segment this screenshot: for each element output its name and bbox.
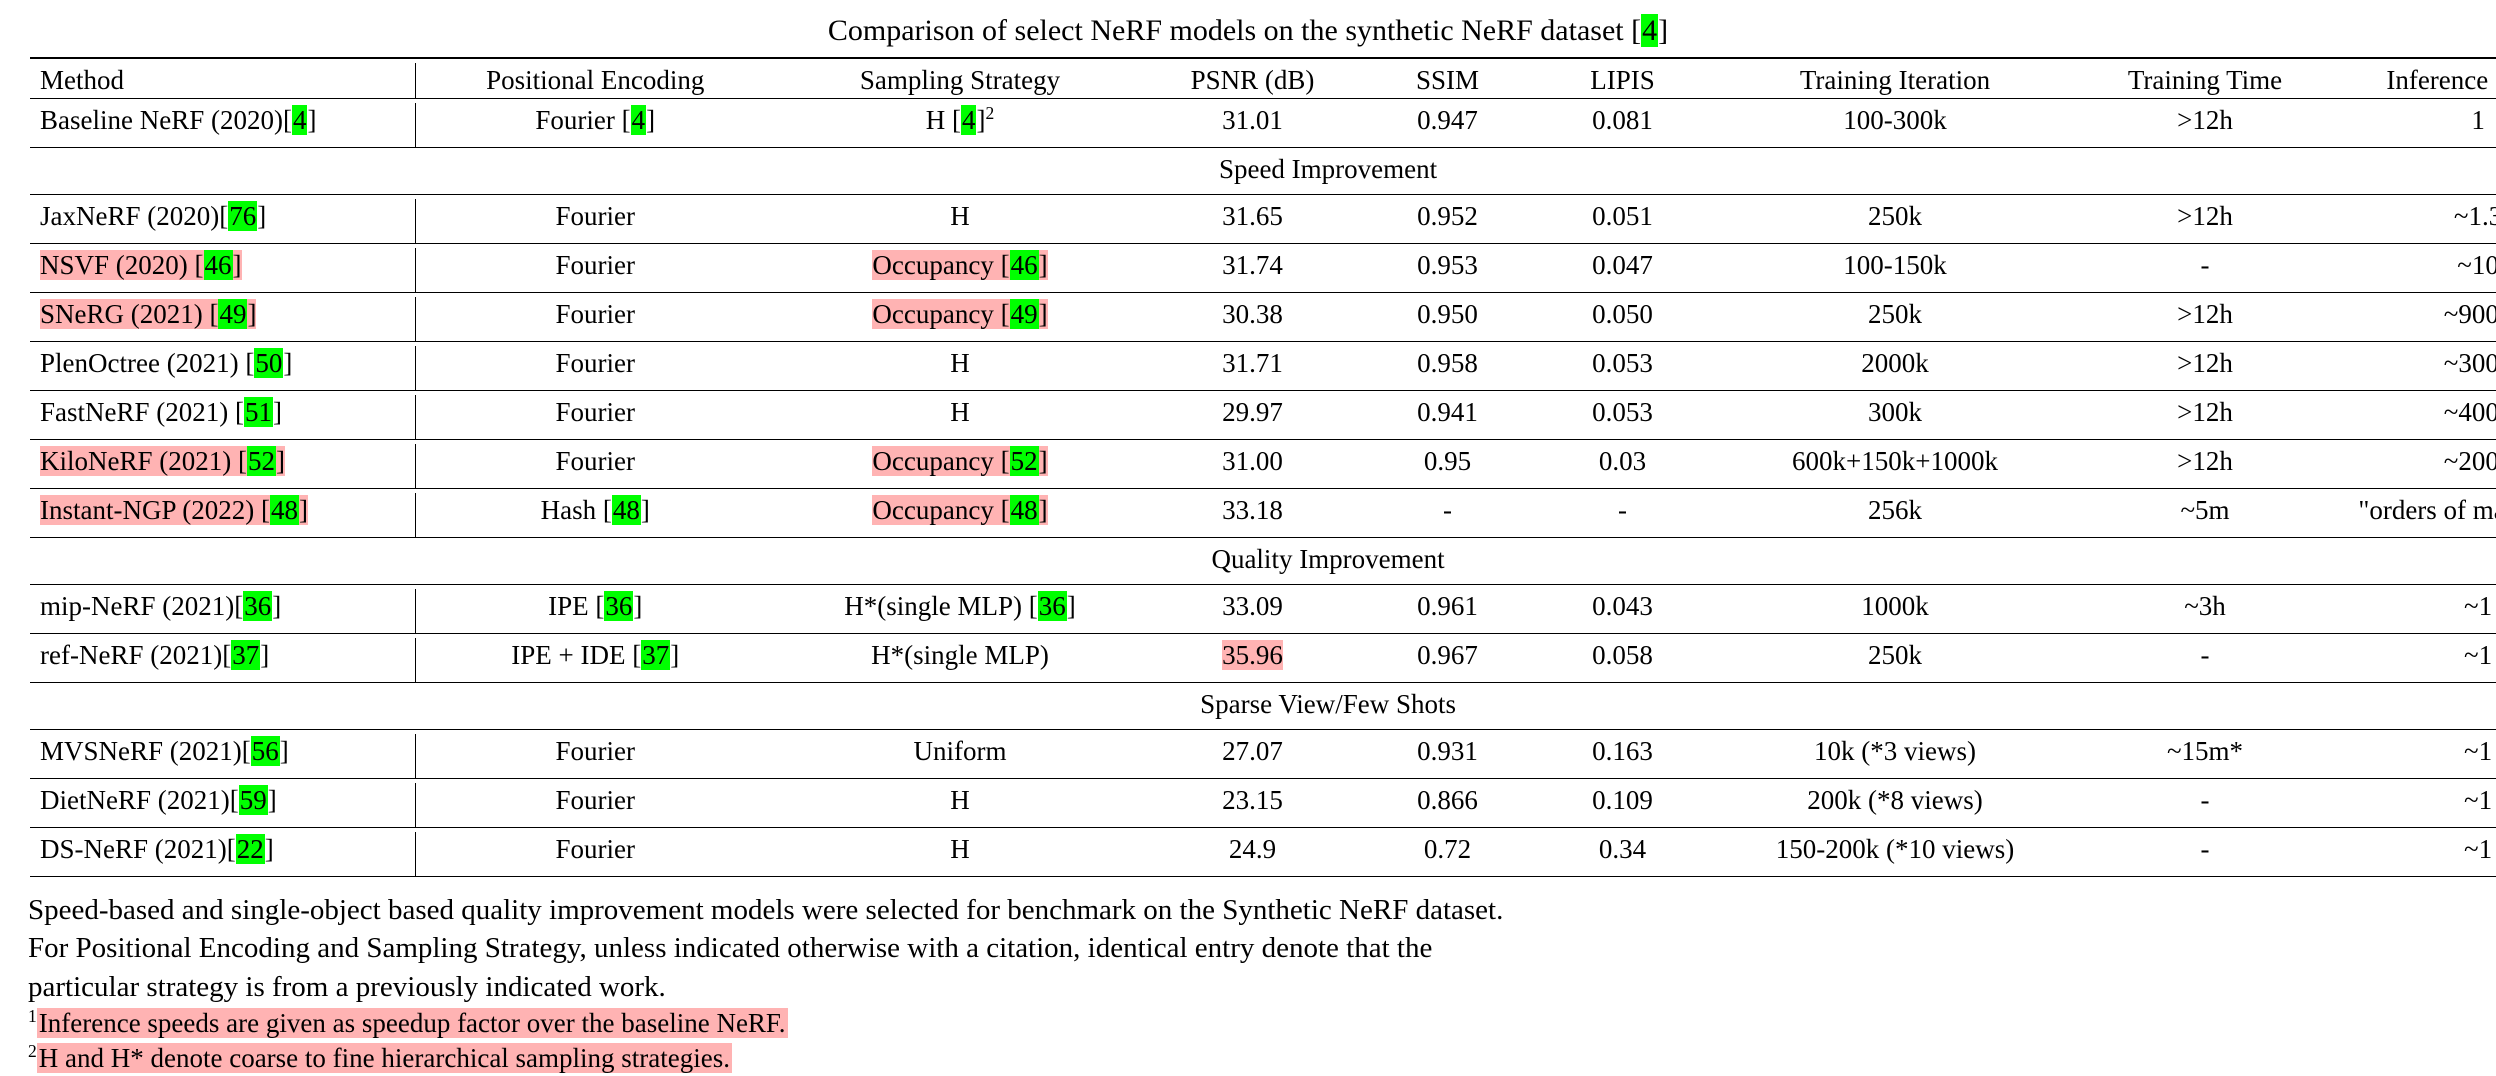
table-row: MVSNeRF (2021)[56]FourierUniform27.070.9… <box>30 734 2496 779</box>
table-row: DS-NeRF (2021)[22]FourierH24.90.720.3415… <box>30 832 2496 877</box>
cell-training-iteration: 150-200k (*10 views) <box>1710 832 2080 877</box>
cell-ssim: - <box>1360 493 1535 538</box>
cell-lipis: 0.163 <box>1535 734 1710 779</box>
cell-method: DS-NeRF (2021)[22] <box>30 832 415 877</box>
cell-sampling-strategy: H*(single MLP) <box>775 638 1145 683</box>
footnote-1-marker: 1 <box>28 1006 37 1026</box>
citation-ref: 56 <box>251 736 280 766</box>
cell-text-after: ] <box>280 736 289 766</box>
cell-text: Fourier <box>556 348 635 378</box>
cell-text-after: ] <box>307 105 316 135</box>
cell-inference-speed: "orders of magnitude" <box>2330 493 2496 538</box>
cell-text-after: ] <box>670 640 679 670</box>
cell-text: Occupancy [ <box>872 446 1009 476</box>
column-header-label: Training Iteration <box>1800 65 1990 95</box>
footnote-2: 2H and H* denote coarse to fine hierarch… <box>28 1041 2468 1076</box>
cell-text-after: ] <box>276 446 285 476</box>
cell-sampling-strategy: H <box>775 346 1145 391</box>
citation-ref: 22 <box>236 834 265 864</box>
cell-training-iteration: 256k <box>1710 493 2080 538</box>
citation-ref: 49 <box>1010 299 1039 329</box>
citation-ref: 59 <box>239 785 268 815</box>
table-row: DietNeRF (2021)[59]FourierH23.150.8660.1… <box>30 783 2496 828</box>
cell-training-time: >12h <box>2080 346 2330 391</box>
cell-text: Occupancy [ <box>872 250 1009 280</box>
cell-ssim: 0.961 <box>1360 589 1535 634</box>
cell-positional-encoding: Fourier <box>415 444 775 489</box>
cell-ssim: 0.950 <box>1360 297 1535 342</box>
cell-ssim: 0.958 <box>1360 346 1535 391</box>
cell-training-time: >12h <box>2080 297 2330 342</box>
cell-lipis: 0.053 <box>1535 346 1710 391</box>
citation-ref: 48 <box>1010 495 1039 525</box>
cell-text: H <box>950 785 970 815</box>
cell-text-after: ] <box>1067 591 1076 621</box>
citation-ref: 52 <box>247 446 276 476</box>
caption-line-3: particular strategy is from a previously… <box>28 968 2468 1006</box>
cell-positional-encoding: Fourier <box>415 395 775 440</box>
cell-psnr: 27.07 <box>1145 734 1360 779</box>
table-body: MethodPositional EncodingSampling Strate… <box>30 58 2496 881</box>
cell-text-after: ] <box>641 495 650 525</box>
cell-inference-speed: ~1.3 <box>2330 199 2496 244</box>
citation-ref: 36 <box>1038 591 1067 621</box>
citation-ref: 4 <box>961 105 977 135</box>
citation-ref: 50 <box>254 348 283 378</box>
cell-psnr: 31.01 <box>1145 103 1360 148</box>
citation-ref: 4 <box>292 105 308 135</box>
cell-ssim: 0.947 <box>1360 103 1535 148</box>
cell-inference-speed: ~1 <box>2330 783 2496 828</box>
cell-ssim: 0.952 <box>1360 199 1535 244</box>
cell-text: MVSNeRF (2021)[ <box>40 736 251 766</box>
table-row: JaxNeRF (2020)[76]FourierH31.650.9520.05… <box>30 199 2496 244</box>
cell-sampling-strategy: H <box>775 395 1145 440</box>
cell-training-time: - <box>2080 248 2330 293</box>
table-row: PlenOctree (2021) [50]FourierH31.710.958… <box>30 346 2496 391</box>
footnote-2-marker: 2 <box>28 1041 37 1061</box>
cell-psnr: 31.00 <box>1145 444 1360 489</box>
cell-method: mip-NeRF (2021)[36] <box>30 589 415 634</box>
column-header-psnr-db: PSNR (dB) <box>1145 63 1360 99</box>
cell-text: Uniform <box>914 736 1007 766</box>
cell-text: Fourier <box>556 785 635 815</box>
cell-lipis: 0.34 <box>1535 832 1710 877</box>
cell-method: KiloNeRF (2021) [52] <box>30 444 415 489</box>
cell-text: Fourier <box>556 446 635 476</box>
cell-text: Fourier <box>556 834 635 864</box>
cell-training-iteration: 1000k <box>1710 589 2080 634</box>
cell-method: FastNeRF (2021) [51] <box>30 395 415 440</box>
cell-text-after: ] <box>273 397 282 427</box>
cell-text-after: ] <box>247 299 256 329</box>
table-row: ref-NeRF (2021)[37]IPE + IDE [37]H*(sing… <box>30 638 2496 683</box>
cell-sampling-strategy: Occupancy [48] <box>775 493 1145 538</box>
cell-sampling-strategy: H*(single MLP) [36] <box>775 589 1145 634</box>
citation-ref: 51 <box>244 397 273 427</box>
column-header-lipis: LIPIS <box>1535 63 1710 99</box>
cell-text: Hash [ <box>541 495 612 525</box>
table-row: NSVF (2020) [46]FourierOccupancy [46]31.… <box>30 248 2496 293</box>
cell-text: IPE [ <box>548 591 604 621</box>
cell-lipis: 0.03 <box>1535 444 1710 489</box>
cell-psnr: 33.18 <box>1145 493 1360 538</box>
cell-method: Baseline NeRF (2020)[4] <box>30 103 415 148</box>
cell-lipis: 0.047 <box>1535 248 1710 293</box>
cell-positional-encoding: Fourier <box>415 832 775 877</box>
cell-text-after: ] <box>233 250 242 280</box>
cell-text: H [ <box>926 105 961 135</box>
cell-training-time: ~3h <box>2080 589 2330 634</box>
cell-ssim: 0.95 <box>1360 444 1535 489</box>
citation-ref: 46 <box>1010 250 1039 280</box>
cell-training-time: ~15m* <box>2080 734 2330 779</box>
column-header-sampling-strategy: Sampling Strategy <box>775 63 1145 99</box>
cell-positional-encoding: Fourier [4] <box>415 103 775 148</box>
table-page: Comparison of select NeRF models on the … <box>0 0 2496 1014</box>
caption-line-1: Speed-based and single-object based qual… <box>28 891 2468 929</box>
column-header-label: Training Time <box>2128 65 2282 95</box>
cell-text: H <box>950 201 970 231</box>
cell-lipis: 0.051 <box>1535 199 1710 244</box>
cell-text-after: ] <box>1039 299 1048 329</box>
cell-training-iteration: 200k (*8 views) <box>1710 783 2080 828</box>
cell-text-after: ] <box>272 591 281 621</box>
cell-text-after: ] <box>1039 446 1048 476</box>
cell-text: PlenOctree (2021) [ <box>40 348 254 378</box>
table-row: Instant-NGP (2022) [48]Hash [48]Occupanc… <box>30 493 2496 538</box>
cell-training-iteration: 250k <box>1710 199 2080 244</box>
cell-ssim: 0.72 <box>1360 832 1535 877</box>
title-text-after: ] <box>1658 14 1668 47</box>
cell-psnr: 24.9 <box>1145 832 1360 877</box>
cell-training-time: - <box>2080 832 2330 877</box>
cell-lipis: 0.053 <box>1535 395 1710 440</box>
cell-psnr: 35.96 <box>1145 638 1360 683</box>
highlighted-method: KiloNeRF (2021) [52] <box>40 446 285 476</box>
cell-training-time: >12h <box>2080 395 2330 440</box>
column-header-training-time: Training Time <box>2080 63 2330 99</box>
column-header-inference-speed: Inference Speed1 <box>2330 63 2496 99</box>
cell-text-after: ] <box>646 105 655 135</box>
citation-ref: 37 <box>641 640 670 670</box>
cell-inference-speed: ~1 <box>2330 832 2496 877</box>
cell-psnr: 31.74 <box>1145 248 1360 293</box>
cell-inference-speed: ~1 <box>2330 734 2496 779</box>
cell-sampling-strategy: Occupancy [52] <box>775 444 1145 489</box>
highlighted-sampling-strategy: Occupancy [52] <box>872 446 1047 476</box>
footnote-1-text: Inference speeds are given as speedup fa… <box>37 1008 788 1038</box>
cell-training-time: >12h <box>2080 199 2330 244</box>
section-header-row: Sparse View/Few Shots <box>30 687 2496 730</box>
cell-ssim: 0.941 <box>1360 395 1535 440</box>
column-header-label: PSNR (dB) <box>1191 65 1315 95</box>
table-title: Comparison of select NeRF models on the … <box>0 0 2496 57</box>
cell-text: Fourier <box>556 736 635 766</box>
cell-text: Baseline NeRF (2020)[ <box>40 105 292 135</box>
citation-ref: 48 <box>270 495 299 525</box>
cell-inference-speed: 1 <box>2330 103 2496 148</box>
citation-ref: 36 <box>604 591 633 621</box>
cell-lipis: - <box>1535 493 1710 538</box>
cell-positional-encoding: Fourier <box>415 734 775 779</box>
cell-lipis: 0.058 <box>1535 638 1710 683</box>
cell-method: NSVF (2020) [46] <box>30 248 415 293</box>
table-row: FastNeRF (2021) [51]FourierH29.970.9410.… <box>30 395 2496 440</box>
cell-ssim: 0.953 <box>1360 248 1535 293</box>
caption-line-2: For Positional Encoding and Sampling Str… <box>28 929 2468 967</box>
cell-positional-encoding: Fourier <box>415 248 775 293</box>
section-header-row: Speed Improvement <box>30 152 2496 195</box>
cell-method: DietNeRF (2021)[59] <box>30 783 415 828</box>
cell-text: H*(single MLP) <box>871 640 1049 670</box>
cell-text: Fourier [ <box>535 105 630 135</box>
cell-training-iteration: 10k (*3 views) <box>1710 734 2080 779</box>
column-header-ssim: SSIM <box>1360 63 1535 99</box>
cell-psnr: 31.65 <box>1145 199 1360 244</box>
section-header-row: Quality Improvement <box>30 542 2496 585</box>
cell-sampling-strategy: H [4]2 <box>775 103 1145 148</box>
highlighted-sampling-strategy: Occupancy [46] <box>872 250 1047 280</box>
cell-text-after: ] <box>283 348 292 378</box>
citation-ref: 76 <box>228 201 257 231</box>
cell-text: H <box>950 397 970 427</box>
cell-method: JaxNeRF (2020)[76] <box>30 199 415 244</box>
cell-sampling-strategy: H <box>775 832 1145 877</box>
column-header-label: Inference Speed <box>2386 65 2496 95</box>
cell-text-after: ] <box>268 785 277 815</box>
cell-positional-encoding: Fourier <box>415 199 775 244</box>
column-header-positional-encoding: Positional Encoding <box>415 63 775 99</box>
table-caption: Speed-based and single-object based qual… <box>0 881 2496 1076</box>
cell-method: SNeRG (2021) [49] <box>30 297 415 342</box>
table-header-row: MethodPositional EncodingSampling Strate… <box>30 63 2496 99</box>
title-text-before: Comparison of select NeRF models on the … <box>828 14 1641 47</box>
highlighted-sampling-strategy: Occupancy [48] <box>872 495 1047 525</box>
cell-lipis: 0.109 <box>1535 783 1710 828</box>
cell-text: H <box>950 348 970 378</box>
cell-text-after: ] <box>299 495 308 525</box>
cell-lipis: 0.043 <box>1535 589 1710 634</box>
cell-positional-encoding: Hash [48] <box>415 493 775 538</box>
highlighted-method: Instant-NGP (2022) [48] <box>40 495 308 525</box>
cell-ssim: 0.967 <box>1360 638 1535 683</box>
table-row: KiloNeRF (2021) [52]FourierOccupancy [52… <box>30 444 2496 489</box>
cell-inference-speed: ~3000 <box>2330 346 2496 391</box>
cell-text: JaxNeRF (2020)[ <box>40 201 228 231</box>
cell-training-time: - <box>2080 638 2330 683</box>
cell-training-time: ~5m <box>2080 493 2330 538</box>
cell-sampling-strategy: Occupancy [49] <box>775 297 1145 342</box>
footnote-1: 1Inference speeds are given as speedup f… <box>28 1006 2468 1041</box>
highlighted-psnr: 35.96 <box>1222 640 1283 670</box>
cell-text: DietNeRF (2021)[ <box>40 785 239 815</box>
cell-text: Instant-NGP (2022) [ <box>40 495 270 525</box>
cell-ssim: 0.931 <box>1360 734 1535 779</box>
cell-training-iteration: 250k <box>1710 297 2080 342</box>
cell-training-iteration: 600k+150k+1000k <box>1710 444 2080 489</box>
cell-text: Fourier <box>556 397 635 427</box>
cell-lipis: 0.050 <box>1535 297 1710 342</box>
cell-psnr: 30.38 <box>1145 297 1360 342</box>
citation-ref: 46 <box>204 250 233 280</box>
section-label: Speed Improvement <box>30 152 2496 195</box>
cell-text: Occupancy [ <box>872 495 1009 525</box>
column-header-label: Positional Encoding <box>486 65 704 95</box>
cell-text-after: ] <box>1039 495 1048 525</box>
cell-text: Occupancy [ <box>872 299 1009 329</box>
cell-text: ref-NeRF (2021)[ <box>40 640 231 670</box>
cell-sampling-strategy: Occupancy [46] <box>775 248 1145 293</box>
citation-ref: 49 <box>218 299 247 329</box>
cell-training-iteration: 250k <box>1710 638 2080 683</box>
cell-text: Fourier <box>556 201 635 231</box>
cell-positional-encoding: Fourier <box>415 783 775 828</box>
cell-text: Fourier <box>556 299 635 329</box>
cell-text: H <box>950 834 970 864</box>
table-row: mip-NeRF (2021)[36]IPE [36]H*(single MLP… <box>30 589 2496 634</box>
table-row: Baseline NeRF (2020)[4]Fourier [4]H [4]2… <box>30 103 2496 148</box>
cell-positional-encoding: IPE [36] <box>415 589 775 634</box>
cell-method: MVSNeRF (2021)[56] <box>30 734 415 779</box>
cell-training-iteration: 2000k <box>1710 346 2080 391</box>
cell-method: PlenOctree (2021) [50] <box>30 346 415 391</box>
title-citation-ref: 4 <box>1641 14 1658 47</box>
cell-psnr: 23.15 <box>1145 783 1360 828</box>
cell-text: H*(single MLP) [ <box>844 591 1037 621</box>
cell-positional-encoding: Fourier <box>415 346 775 391</box>
cell-text-after: ] <box>257 201 266 231</box>
cell-text: Fourier <box>556 250 635 280</box>
column-header-method: Method <box>30 63 415 99</box>
citation-ref: 4 <box>631 105 647 135</box>
cell-text-after: ] <box>1039 250 1048 280</box>
cell-sampling-strategy: H <box>775 199 1145 244</box>
column-header-training-iteration: Training Iteration <box>1710 63 2080 99</box>
cell-training-iteration: 300k <box>1710 395 2080 440</box>
cell-training-time: >12h <box>2080 444 2330 489</box>
table-container: MethodPositional EncodingSampling Strate… <box>0 57 2496 881</box>
footnote-2-text: H and H* denote coarse to fine hierarchi… <box>37 1043 732 1073</box>
table-row: SNeRG (2021) [49]FourierOccupancy [49]30… <box>30 297 2496 342</box>
highlighted-method: SNeRG (2021) [49] <box>40 299 256 329</box>
cell-psnr: 33.09 <box>1145 589 1360 634</box>
cell-inference-speed: ~1 <box>2330 589 2496 634</box>
cell-text: IPE + IDE [ <box>511 640 641 670</box>
cell-text: SNeRG (2021) [ <box>40 299 218 329</box>
column-header-label: SSIM <box>1416 65 1479 95</box>
cell-sampling-strategy: Uniform <box>775 734 1145 779</box>
cell-training-iteration: 100-300k <box>1710 103 2080 148</box>
cell-positional-encoding: Fourier <box>415 297 775 342</box>
highlighted-method: NSVF (2020) [46] <box>40 250 242 280</box>
citation-ref: 48 <box>612 495 641 525</box>
cell-text: NSVF (2020) [ <box>40 250 204 280</box>
cell-inference-speed: ~10 <box>2330 248 2496 293</box>
column-header-label: Method <box>40 65 124 95</box>
column-header-label: LIPIS <box>1590 65 1655 95</box>
cell-method: Instant-NGP (2022) [48] <box>30 493 415 538</box>
cell-text-after: ] <box>633 591 642 621</box>
cell-inference-speed: ~9000 <box>2330 297 2496 342</box>
cell-sampling-strategy: H <box>775 783 1145 828</box>
cell-text: KiloNeRF (2021) [ <box>40 446 247 476</box>
cell-text-after: ] <box>265 834 274 864</box>
footnote-marker: 2 <box>985 103 994 123</box>
cell-psnr: 31.71 <box>1145 346 1360 391</box>
cell-psnr: 29.97 <box>1145 395 1360 440</box>
cell-lipis: 0.081 <box>1535 103 1710 148</box>
cell-text: DS-NeRF (2021)[ <box>40 834 236 864</box>
column-header-label: Sampling Strategy <box>860 65 1060 95</box>
section-label: Sparse View/Few Shots <box>30 687 2496 730</box>
cell-inference-speed: ~2000 <box>2330 444 2496 489</box>
cell-inference-speed: ~1 <box>2330 638 2496 683</box>
citation-ref: 37 <box>231 640 260 670</box>
cell-training-time: - <box>2080 783 2330 828</box>
cell-text: FastNeRF (2021) [ <box>40 397 244 427</box>
cell-positional-encoding: IPE + IDE [37] <box>415 638 775 683</box>
citation-ref: 52 <box>1010 446 1039 476</box>
highlighted-sampling-strategy: Occupancy [49] <box>872 299 1047 329</box>
cell-inference-speed: ~4000 <box>2330 395 2496 440</box>
cell-method: ref-NeRF (2021)[37] <box>30 638 415 683</box>
cell-ssim: 0.866 <box>1360 783 1535 828</box>
citation-ref: 36 <box>243 591 272 621</box>
cell-text-after: ] <box>260 640 269 670</box>
comparison-table: MethodPositional EncodingSampling Strate… <box>30 57 2496 881</box>
cell-training-time: >12h <box>2080 103 2330 148</box>
cell-text: mip-NeRF (2021)[ <box>40 591 243 621</box>
section-label: Quality Improvement <box>30 542 2496 585</box>
cell-training-iteration: 100-150k <box>1710 248 2080 293</box>
